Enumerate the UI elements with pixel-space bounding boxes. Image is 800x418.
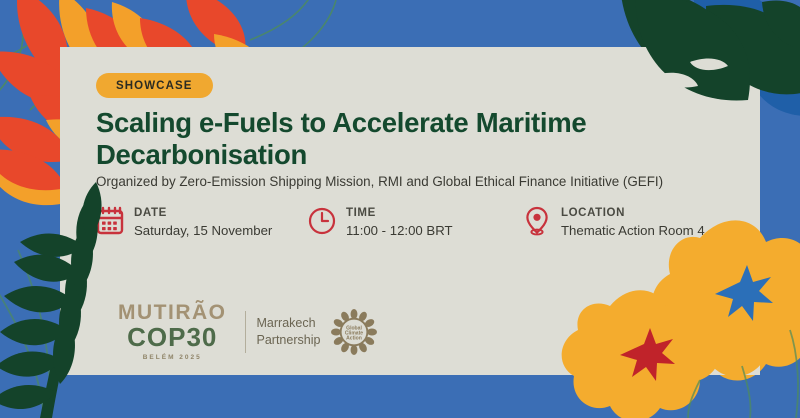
- clock-icon: [308, 206, 336, 236]
- cop30-text: COP30: [118, 324, 227, 351]
- logo-divider: [245, 311, 246, 353]
- detail-time: TIME 11:00 - 12:00 BRT: [308, 205, 523, 240]
- cop30-logo: MUTIRÃO COP30 BELÉM 2025: [118, 302, 227, 361]
- marrakech-partnership-logo: Marrakech Partnership: [245, 309, 378, 355]
- detail-date-value: Saturday, 15 November: [134, 222, 272, 240]
- global-climate-action-emblem: Global Climate Action: [331, 309, 377, 355]
- event-details-row: DATE Saturday, 15 November TIME 11:00 - …: [96, 205, 756, 240]
- marrakech-partnership-text: Marrakech Partnership: [257, 315, 321, 348]
- detail-time-label: TIME: [346, 206, 453, 220]
- marrakech-line-2: Partnership: [257, 332, 321, 349]
- event-card: SHOWCASE Scaling e-Fuels to Accelerate M…: [60, 47, 760, 375]
- detail-date-label: DATE: [134, 206, 272, 220]
- detail-time-value: 11:00 - 12:00 BRT: [346, 222, 453, 240]
- calendar-icon: [96, 206, 124, 236]
- event-title-line-1: Scaling e-Fuels to Accelerate Maritime: [96, 107, 696, 139]
- cop30-mutirao-text: MUTIRÃO: [118, 302, 227, 323]
- location-pin-icon: [523, 206, 551, 236]
- detail-location-value: Thematic Action Room 4: [561, 222, 705, 240]
- marrakech-line-1: Marrakech: [257, 315, 321, 332]
- detail-location: LOCATION Thematic Action Room 4: [523, 205, 753, 240]
- event-banner: SHOWCASE Scaling e-Fuels to Accelerate M…: [0, 0, 800, 418]
- logo-lockup: MUTIRÃO COP30 BELÉM 2025 Marrakech Partn…: [118, 302, 377, 361]
- showcase-badge: SHOWCASE: [96, 73, 213, 98]
- event-organizers: Organized by Zero-Emission Shipping Miss…: [96, 173, 746, 190]
- detail-location-label: LOCATION: [561, 206, 705, 220]
- stem-lines-bottom-left: [0, 250, 50, 418]
- cop30-belem-text: BELÉM 2025: [118, 354, 227, 361]
- emblem-line-3: Action: [347, 335, 363, 341]
- event-title: Scaling e-Fuels to Accelerate Maritime D…: [96, 107, 696, 171]
- detail-date: DATE Saturday, 15 November: [96, 205, 308, 240]
- event-title-line-2: Decarbonisation: [96, 139, 696, 171]
